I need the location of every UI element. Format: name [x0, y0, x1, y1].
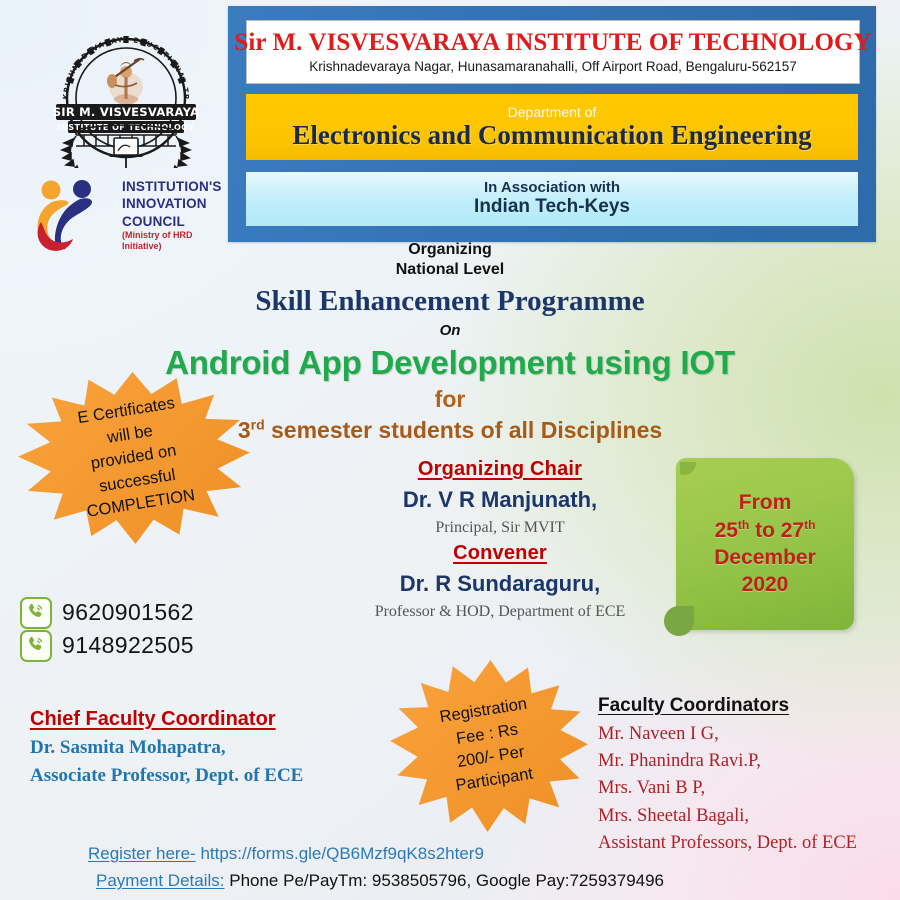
date-day-start-suffix: th: [738, 518, 749, 532]
phone-number-1: 9620901562: [62, 599, 194, 626]
department-panel: Department of Electronics and Communicat…: [246, 94, 858, 160]
date-year: 2020: [742, 573, 789, 596]
organizing-label: Organizing: [0, 240, 900, 260]
contact-phone-list: 9620901562 9148922505: [20, 596, 194, 662]
chairs-section: Organizing Chair Dr. V R Manjunath, Prin…: [305, 455, 695, 623]
audience-rest: semester students of all Disciplines: [265, 417, 663, 443]
association-name: Indian Tech-Keys: [474, 196, 630, 219]
institute-name: Sir M. VISVESVARAYA INSTITUTE OF TECHNOL…: [234, 30, 871, 56]
faculty-member: Mr. Naveen I G,: [598, 721, 857, 748]
chief-coordinator-section: Chief Faculty Coordinator Dr. Sasmita Mo…: [30, 705, 303, 789]
event-date-banner: From 25th to 27th December 2020: [676, 458, 854, 630]
phone-icon: [20, 597, 52, 629]
phone-row-2: 9148922505: [20, 629, 194, 662]
chief-coordinator-name: Dr. Sasmita Mohapatra,: [30, 734, 303, 762]
register-row: Register here- https://forms.gle/QB6Mzf9…: [88, 840, 664, 867]
institute-name-panel: Sir M. VISVESVARAYA INSTITUTE OF TECHNOL…: [246, 20, 860, 84]
faculty-member: Mrs. Vani B P,: [598, 775, 857, 802]
date-from-label: From: [739, 491, 792, 514]
registration-fee-starburst: [389, 658, 590, 833]
svg-text:SIR M. VISVESVARAYA: SIR M. VISVESVARAYA: [53, 105, 200, 119]
convener-role: Professor & HOD, Department of ECE: [305, 600, 695, 623]
date-to-label: to: [749, 519, 781, 542]
department-of-label: Department of: [508, 105, 597, 120]
audience-ordinal: 3: [238, 417, 251, 443]
mvit-crest-logo: SRI KRISHNADEVARAYA EDUCATIONAL TRUST SI…: [46, 18, 206, 168]
phone-icon: [20, 630, 52, 662]
institute-address: Krishnadevaraya Nagar, Hunasamaranahalli…: [309, 59, 797, 74]
phone-row-1: 9620901562: [20, 596, 194, 629]
iic-line-1: INSTITUTION'S: [122, 178, 226, 195]
association-label: In Association with: [484, 179, 620, 196]
faculty-coordinators-heading: Faculty Coordinators: [598, 692, 857, 721]
footer-links: Register here- https://forms.gle/QB6Mzf9…: [88, 840, 664, 894]
date-day-start: 25: [715, 519, 738, 542]
faculty-member: Mr. Phanindra Ravi.P,: [598, 748, 857, 775]
association-panel: In Association with Indian Tech-Keys: [246, 172, 858, 226]
chief-coordinator-heading: Chief Faculty Coordinator: [30, 705, 303, 734]
date-day-end: 27: [781, 519, 804, 542]
iic-line-3: COUNCIL: [122, 213, 226, 230]
convener-label: Convener: [305, 539, 695, 568]
national-level-label: National Level: [0, 260, 900, 280]
payment-row: Payment Details: Phone Pe/PayTm: 9538505…: [88, 867, 664, 894]
organizing-chair-label: Organizing Chair: [305, 455, 695, 484]
organizing-chair-role: Principal, Sir MVIT: [305, 516, 695, 539]
header-banner: Sir M. VISVESVARAYA INSTITUTE OF TECHNOL…: [228, 6, 876, 242]
programme-title: Skill Enhancement Programme: [0, 282, 900, 321]
on-label: On: [0, 321, 900, 341]
faculty-coordinators-section: Faculty Coordinators Mr. Naveen I G, Mr.…: [598, 692, 857, 857]
phone-number-2: 9148922505: [62, 632, 194, 659]
date-day-end-suffix: th: [804, 518, 815, 532]
iic-line-2: INNOVATION: [122, 195, 226, 212]
poster-canvas: SRI KRISHNADEVARAYA EDUCATIONAL TRUST SI…: [0, 0, 900, 900]
department-name: Electronics and Communication Engineerin…: [292, 121, 811, 149]
chief-coordinator-designation: Associate Professor, Dept. of ECE: [30, 762, 303, 790]
convener-name: Dr. R Sundaraguru,: [305, 568, 695, 600]
audience-ordinal-suffix: rd: [251, 416, 265, 432]
institute-name-prefix: Sir: [234, 29, 266, 56]
date-month: December: [714, 546, 816, 569]
register-here-label: Register here-: [88, 844, 196, 863]
institute-name-main: M. VISVESVARAYA INSTITUTE OF TECHNOLOGY: [272, 29, 871, 56]
payment-details-value: Phone Pe/PayTm: 9538505796, Google Pay:7…: [229, 871, 664, 890]
organizing-chair-name: Dr. V R Manjunath,: [305, 484, 695, 516]
payment-details-label: Payment Details:: [96, 871, 225, 890]
faculty-member: Mrs. Sheetal Bagali,: [598, 803, 857, 830]
registration-url[interactable]: https://forms.gle/QB6Mzf9qK8s2hter9: [200, 844, 483, 863]
event-date-text: From 25th to 27th December 2020: [714, 489, 816, 598]
